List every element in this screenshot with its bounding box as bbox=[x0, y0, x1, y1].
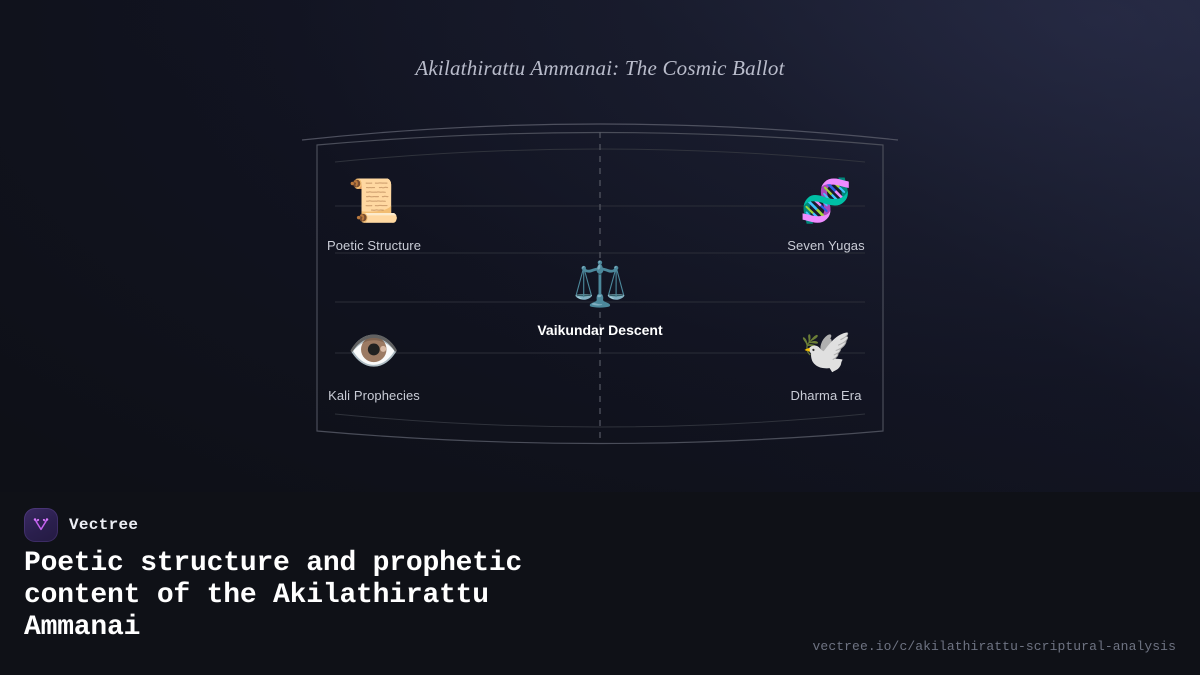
logo-glyph bbox=[31, 515, 51, 535]
dove-icon: 🕊️ bbox=[800, 326, 852, 376]
node-kali-prophecies[interactable]: 👁️ Kali Prophecies bbox=[294, 326, 454, 403]
diagram-panel: Akilathirattu Ammanai: The Cosmic Ballot bbox=[0, 0, 1200, 492]
node-label: Kali Prophecies bbox=[328, 388, 420, 403]
node-poetic-structure[interactable]: 📜 Poetic Structure bbox=[294, 176, 454, 253]
node-vaikundar-descent[interactable]: ⚖️ Vaikundar Descent bbox=[520, 258, 680, 338]
eye-icon: 👁️ bbox=[348, 326, 400, 376]
node-label: Dharma Era bbox=[790, 388, 861, 403]
node-dharma-era[interactable]: 🕊️ Dharma Era bbox=[746, 326, 906, 403]
vectree-branch-logo-icon bbox=[24, 508, 58, 542]
dna-icon: 🧬 bbox=[800, 176, 852, 226]
diagram-title: Akilathirattu Ammanai: The Cosmic Ballot bbox=[0, 56, 1200, 81]
source-url: vectree.io/c/akilathirattu-scriptural-an… bbox=[813, 639, 1176, 654]
poster-canvas: Akilathirattu Ammanai: The Cosmic Ballot bbox=[0, 0, 1200, 675]
node-seven-yugas[interactable]: 🧬 Seven Yugas bbox=[746, 176, 906, 253]
node-label: Poetic Structure bbox=[327, 238, 421, 253]
brand-lockup: Vectree bbox=[24, 508, 138, 542]
center-node-label: Vaikundar Descent bbox=[537, 322, 662, 338]
scroll-icon: 📜 bbox=[348, 176, 400, 226]
node-label: Seven Yugas bbox=[787, 238, 864, 253]
brand-name: Vectree bbox=[69, 516, 138, 534]
balance-scale-icon: ⚖️ bbox=[573, 258, 628, 310]
caption-band: Vectree Poetic structure and prophetic c… bbox=[0, 492, 1200, 675]
headline: Poetic structure and prophetic content o… bbox=[24, 548, 714, 644]
